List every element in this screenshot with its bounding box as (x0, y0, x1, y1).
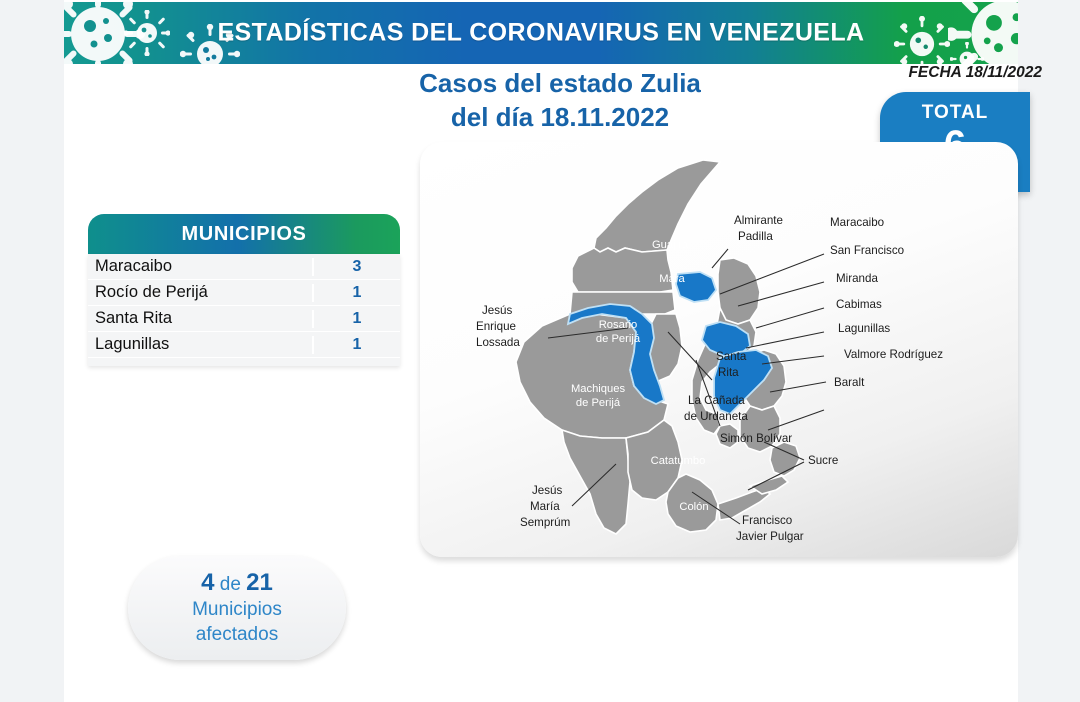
map-label-maracaibo: Maracaibo (830, 216, 884, 229)
affected-count-line: 4 de 21 (128, 568, 346, 598)
map-label-rosario-de-perija-1: Rosario (599, 319, 638, 331)
zulia-map-panel: Guajira Mara Rosario de Perijá Machiques… (420, 142, 1018, 557)
map-label-machiques-de-perija-1: Machiques (571, 383, 626, 395)
affected-label-a: Municipios (128, 598, 346, 623)
map-label-francisco-javier-pulgar-2: Javier Pulgar (736, 530, 804, 543)
map-region-maracaibo-san-francisco (718, 258, 760, 324)
map-label-almirante-padilla-1: Almirante (734, 214, 783, 227)
banner-title: ESTADÍSTICAS DEL CORONAVIRUS EN VENEZUEL… (64, 19, 1018, 48)
map-label-colon: Colón (679, 501, 708, 513)
municipio-name: Lagunillas (88, 335, 312, 354)
map-label-jesus-maria-semprum-1: Jesús (532, 484, 562, 497)
municipio-cases: 3 (312, 258, 400, 276)
map-label-santa-rita-2: Rita (718, 366, 739, 379)
coronavirus-particle-icon (894, 16, 950, 64)
map-label-cabimas: Cabimas (836, 298, 882, 311)
map-label-san-francisco: San Francisco (830, 244, 904, 257)
municipio-cases: 1 (312, 284, 400, 302)
municipios-table: MUNICIPIOS Maracaibo 3 Rocío de Perijá 1… (88, 214, 400, 366)
affected-label-b: afectados (128, 623, 346, 648)
affected-municipios-badge: 4 de 21 Municipios afectados (128, 556, 346, 660)
map-label-santa-rita-1: Santa (716, 350, 747, 363)
map-label-machiques-de-perija-2: de Perijá (576, 397, 621, 409)
zulia-map: Guajira Mara Rosario de Perijá Machiques… (420, 142, 1018, 557)
municipio-name: Santa Rita (88, 309, 312, 328)
map-label-sucre: Sucre (808, 454, 838, 467)
table-row: Lagunillas 1 (88, 332, 400, 358)
map-region-mara (572, 248, 673, 292)
municipio-name: Maracaibo (88, 257, 312, 276)
map-label-baralt: Baralt (834, 376, 865, 389)
map-region-jesus-maria-semprum (562, 430, 630, 534)
affected-count: 4 (201, 569, 214, 596)
municipio-name: Rocío de Perijá (88, 283, 312, 302)
map-label-jesus-enrique-lossada-3: Lossada (476, 336, 520, 349)
infographic-root: ESTADÍSTICAS DEL CORONAVIRUS EN VENEZUEL… (0, 0, 1080, 702)
header-banner: ESTADÍSTICAS DEL CORONAVIRUS EN VENEZUEL… (64, 2, 1018, 64)
municipios-table-body: Maracaibo 3 Rocío de Perijá 1 Santa Rita… (88, 254, 400, 366)
affected-total: 21 (246, 569, 273, 596)
municipio-cases: 1 (312, 336, 400, 354)
map-label-valmore-rodriguez: Valmore Rodríguez (844, 348, 943, 361)
map-label-jesus-maria-semprum-2: María (530, 500, 560, 513)
map-label-catatumbo: Catatumbo (651, 455, 706, 467)
fecha-label: FECHA 18/11/2022 (908, 64, 1042, 82)
page-title-line1: Casos del estado Zulia (300, 66, 820, 100)
total-badge-label: TOTAL (880, 102, 1030, 124)
map-label-jesus-maria-semprum-3: Semprúm (520, 516, 570, 529)
map-label-guajira: Guajira (652, 239, 689, 251)
page-title: Casos del estado Zulia del día 18.11.202… (300, 66, 820, 135)
table-row: Santa Rita 1 (88, 306, 400, 332)
map-label-almirante-padilla-2: Padilla (738, 230, 773, 243)
map-label-la-canada-de-urdaneta-1: La Cañada (688, 394, 745, 407)
table-row: Maracaibo 3 (88, 254, 400, 280)
map-label-francisco-javier-pulgar-1: Francisco (742, 514, 792, 527)
municipio-cases: 1 (312, 310, 400, 328)
affected-connector: de (220, 574, 241, 595)
map-label-lagunillas: Lagunillas (838, 322, 890, 335)
map-label-la-canada-de-urdaneta-2: de Urdaneta (684, 410, 748, 423)
municipios-table-header: MUNICIPIOS (88, 214, 400, 254)
map-label-rosario-de-perija-2: de Perijá (596, 333, 641, 345)
map-label-mara: Mara (659, 273, 685, 285)
map-label-jesus-enrique-lossada-1: Jesús (482, 304, 512, 317)
map-label-jesus-enrique-lossada-2: Enrique (476, 320, 516, 333)
coronavirus-particle-icon (948, 2, 1018, 64)
map-label-miranda: Miranda (836, 272, 878, 285)
page-title-line2: del día 18.11.2022 (300, 100, 820, 134)
table-row: Rocío de Perijá 1 (88, 280, 400, 306)
map-label-simon-bolivar: Simón Bolívar (720, 432, 792, 445)
